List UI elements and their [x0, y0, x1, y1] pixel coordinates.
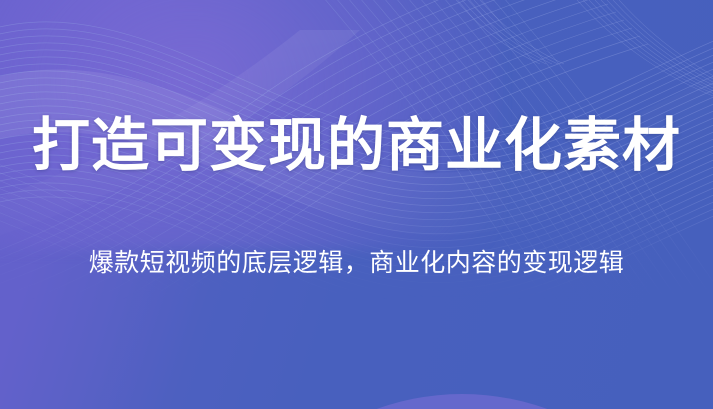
banner-subtitle: 爆款短视频的底层逻辑，商业化内容的变现逻辑 [0, 246, 713, 280]
banner-content: 打造可变现的商业化素材 爆款短视频的底层逻辑，商业化内容的变现逻辑 [0, 0, 713, 409]
banner-title: 打造可变现的商业化素材 [0, 113, 713, 179]
promo-banner: 打造可变现的商业化素材 爆款短视频的底层逻辑，商业化内容的变现逻辑 [0, 0, 713, 409]
